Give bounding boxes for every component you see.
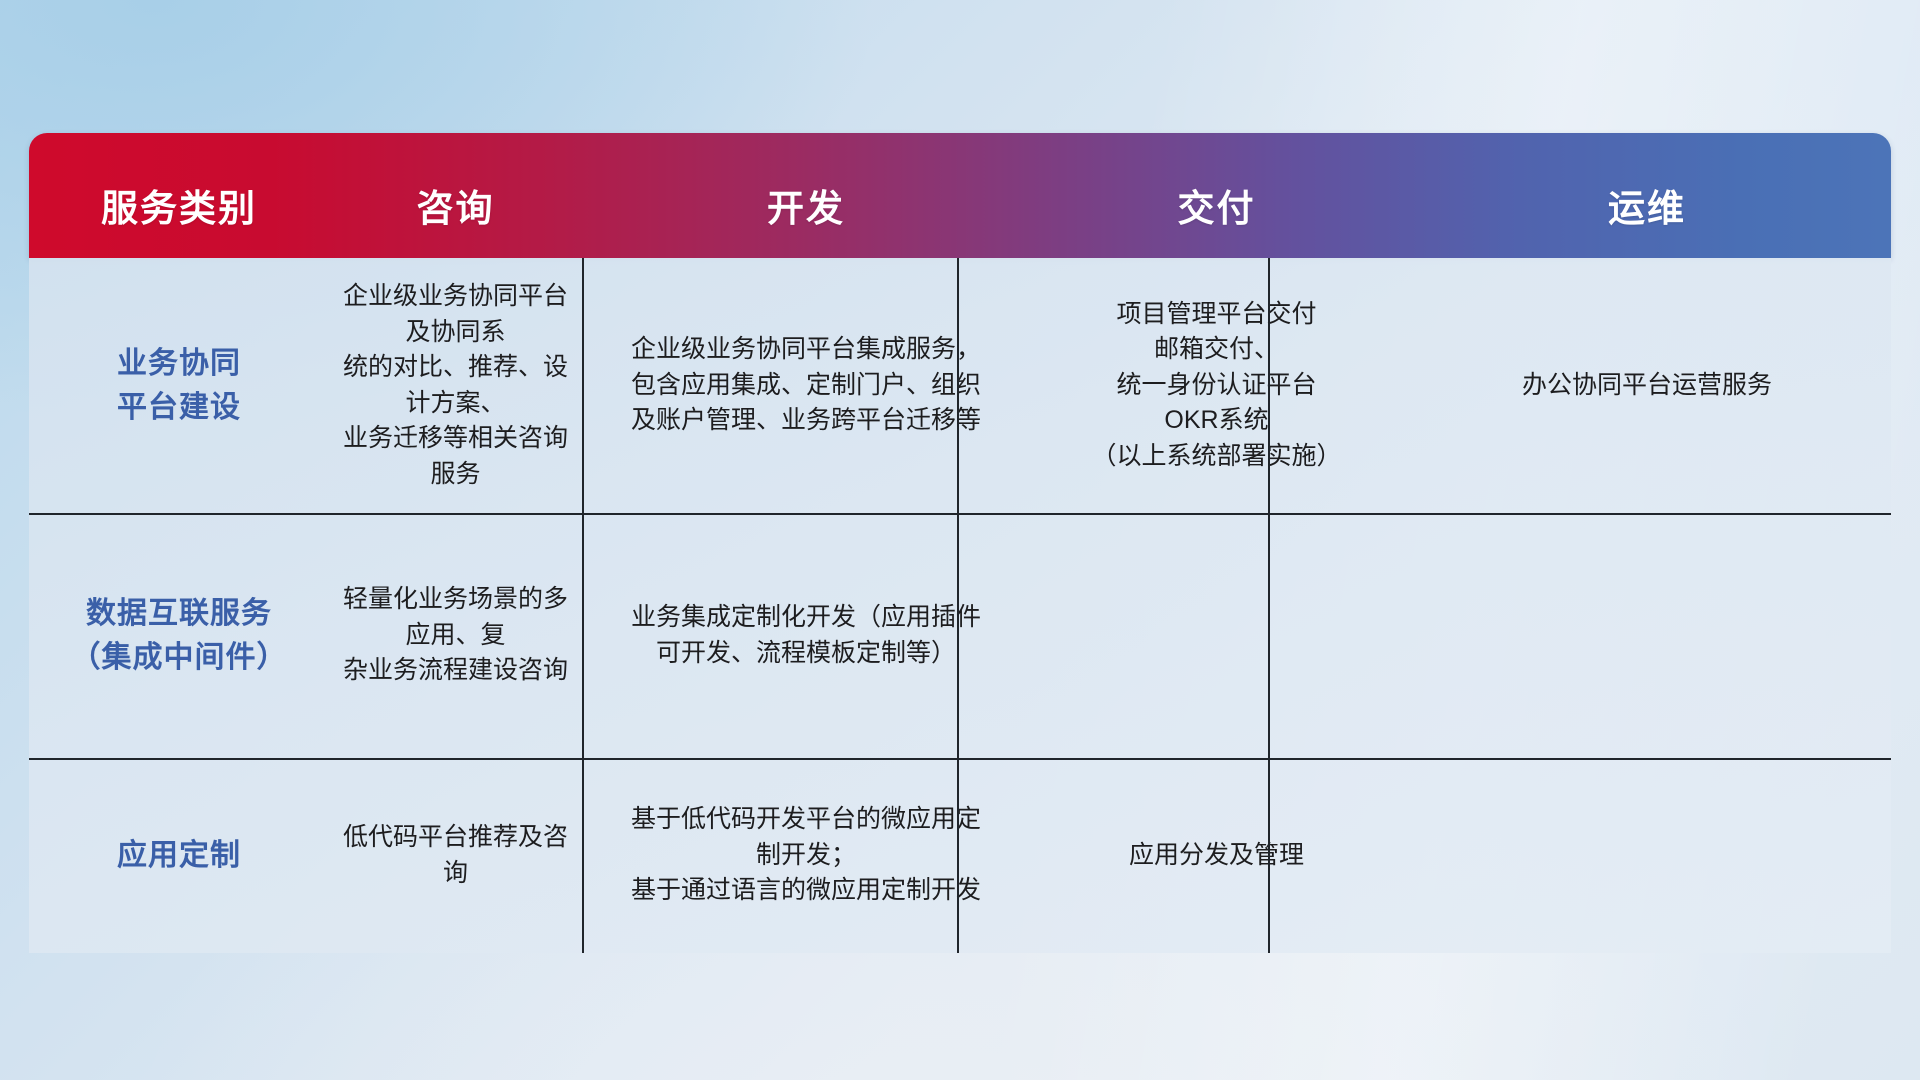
header-cell-delivery: 交付 (1030, 178, 1403, 258)
header-cell-consulting: 咨询 (329, 178, 582, 258)
header-cell-development: 开发 (582, 178, 1030, 258)
cell-row2-delivery (1030, 513, 1403, 758)
cell-text: 企业级业务协同平台及协同系 统的对比、推荐、设计方案、 业务迁移等相关咨询服务 (343, 279, 568, 492)
table-body: 业务协同 平台建设 企业级业务协同平台及协同系 统的对比、推荐、设计方案、 业务… (29, 258, 1891, 953)
cell-text: 低代码平台推荐及咨询 (343, 820, 568, 891)
header-cell-operations: 运维 (1403, 178, 1891, 258)
column-divider-2 (957, 258, 959, 953)
row-label-data-integration: 数据互联服务 （集成中间件） (29, 513, 329, 758)
cell-row2-consulting: 轻量化业务场景的多应用、复 杂业务流程建设咨询 (329, 513, 582, 758)
row-divider-1 (29, 513, 1891, 515)
row-label-business-collaboration: 业务协同 平台建设 (29, 258, 329, 513)
cell-text: 轻量化业务场景的多应用、复 杂业务流程建设咨询 (343, 582, 568, 689)
cell-text: 应用分发及管理 (1129, 838, 1304, 874)
cell-text: 项目管理平台交付 邮箱交付、 统一身份认证平台 OKR系统 （以上系统部署实施） (1091, 297, 1341, 475)
cell-row1-development: 企业级业务协同平台集成服务， 包含应用集成、定制门户、组织 及账户管理、业务跨平… (582, 258, 1030, 513)
cell-text: 企业级业务协同平台集成服务， 包含应用集成、定制门户、组织 及账户管理、业务跨平… (631, 332, 981, 439)
cell-row2-operations (1403, 513, 1891, 758)
table-header-row: 服务类别 咨询 开发 交付 运维 (29, 133, 1891, 258)
table-row: 业务协同 平台建设 企业级业务协同平台及协同系 统的对比、推荐、设计方案、 业务… (29, 258, 1891, 513)
cell-row3-development: 基于低代码开发平台的微应用定 制开发； 基于通过语言的微应用定制开发 (582, 758, 1030, 953)
column-divider-3 (1268, 258, 1270, 953)
cell-row3-consulting: 低代码平台推荐及咨询 (329, 758, 582, 953)
cell-row1-delivery: 项目管理平台交付 邮箱交付、 统一身份认证平台 OKR系统 （以上系统部署实施） (1030, 258, 1403, 513)
row-label-text: 数据互联服务 （集成中间件） (71, 592, 288, 679)
row-divider-2 (29, 758, 1891, 760)
cell-row1-consulting: 企业级业务协同平台及协同系 统的对比、推荐、设计方案、 业务迁移等相关咨询服务 (329, 258, 582, 513)
table-row: 应用定制 低代码平台推荐及咨询 基于低代码开发平台的微应用定 制开发； 基于通过… (29, 758, 1891, 953)
row-label-text: 业务协同 平台建设 (117, 342, 241, 429)
row-label-text: 应用定制 (117, 834, 241, 878)
column-divider-1 (582, 258, 584, 953)
header-cell-service-category: 服务类别 (29, 178, 329, 258)
cell-text: 业务集成定制化开发（应用插件 可开发、流程模板定制等） (631, 600, 981, 671)
cell-row3-delivery: 应用分发及管理 (1030, 758, 1403, 953)
cell-text: 基于低代码开发平台的微应用定 制开发； 基于通过语言的微应用定制开发 (631, 802, 981, 909)
service-matrix-table: 服务类别 咨询 开发 交付 运维 业务协同 平台建设 企业级业务协同平台及协同系… (29, 133, 1891, 953)
cell-text: 办公协同平台运营服务 (1522, 368, 1772, 404)
cell-row3-operations (1403, 758, 1891, 953)
cell-row2-development: 业务集成定制化开发（应用插件 可开发、流程模板定制等） (582, 513, 1030, 758)
row-label-app-customization: 应用定制 (29, 758, 329, 953)
table-row: 数据互联服务 （集成中间件） 轻量化业务场景的多应用、复 杂业务流程建设咨询 业… (29, 513, 1891, 758)
cell-row1-operations: 办公协同平台运营服务 (1403, 258, 1891, 513)
